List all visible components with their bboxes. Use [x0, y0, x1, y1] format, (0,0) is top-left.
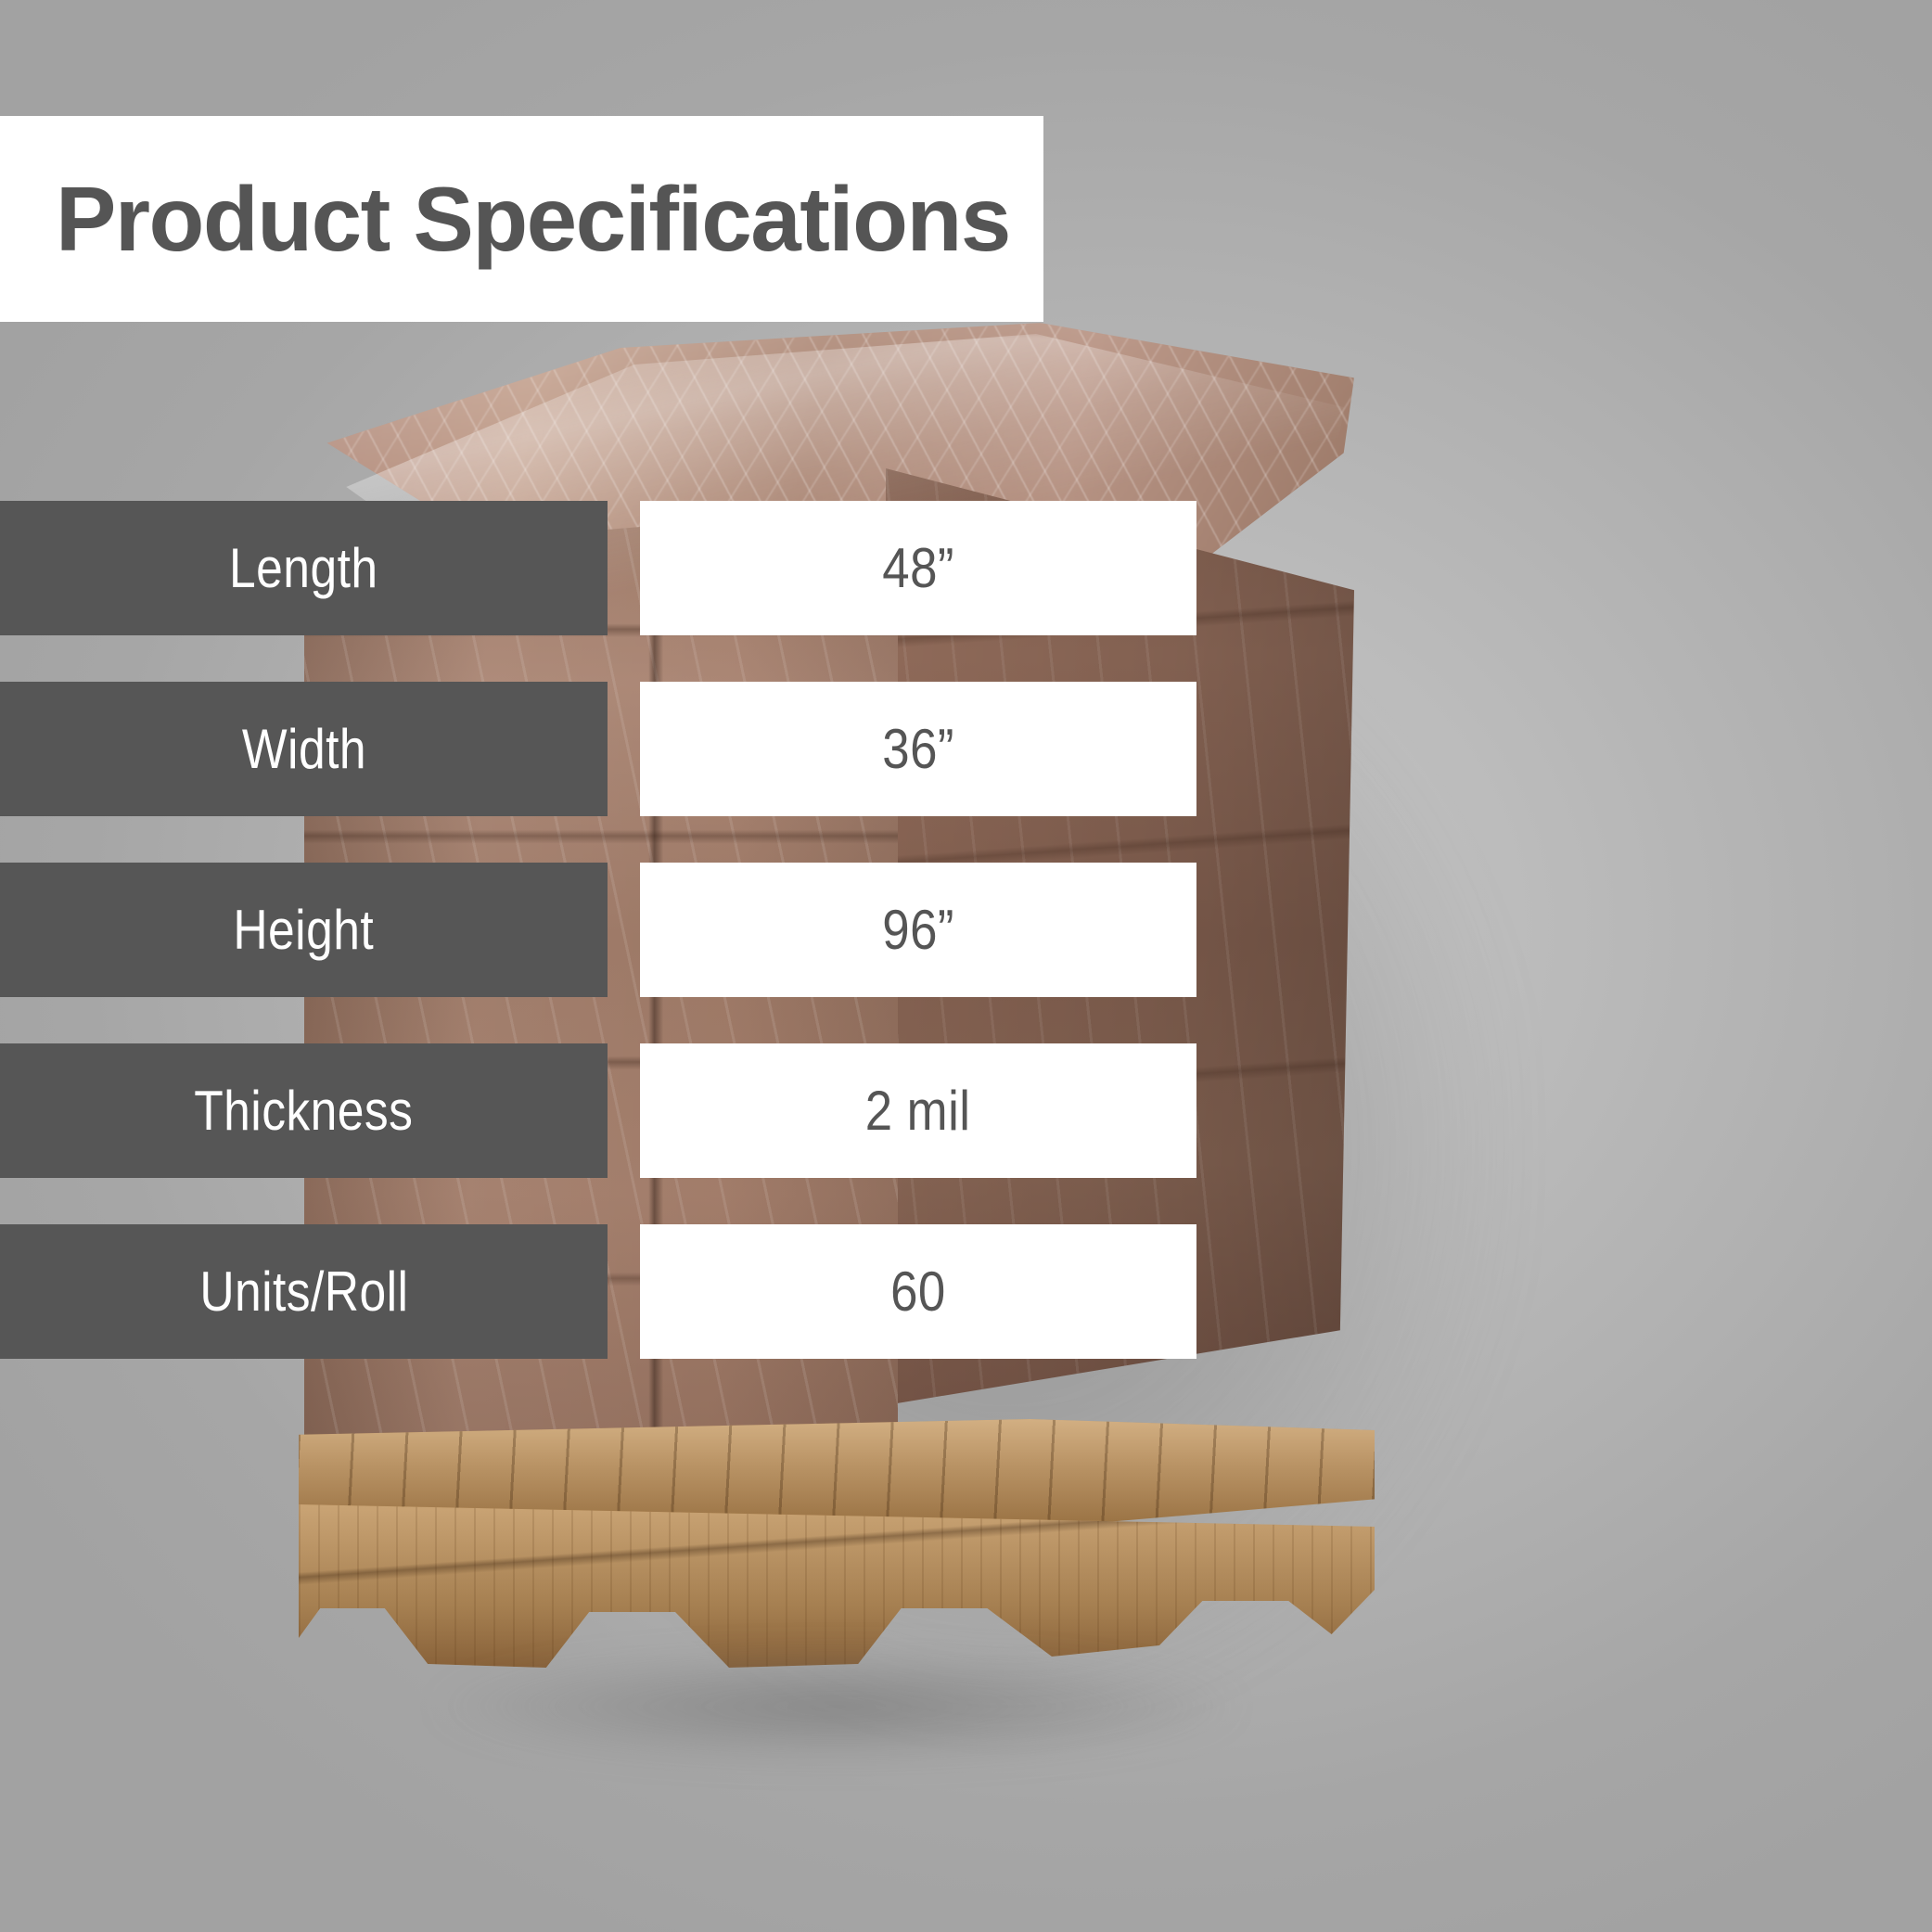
table-row: Thickness 2 mil [0, 1043, 1206, 1178]
spec-label-text: Length [229, 541, 377, 596]
table-row: Width 36” [0, 682, 1206, 816]
spec-label-thickness: Thickness [0, 1043, 608, 1178]
spec-value-height: 96” [640, 863, 1196, 997]
table-row: Height 96” [0, 863, 1206, 997]
specifications-table: Length 48” Width 36” Height 96” Thi [0, 501, 1206, 1405]
spec-label-height: Height [0, 863, 608, 997]
table-row: Units/Roll 60 [0, 1224, 1206, 1359]
spec-value-length: 48” [640, 501, 1196, 635]
page-title: Product Specifications [56, 173, 1010, 264]
spec-value-width: 36” [640, 682, 1196, 816]
spec-label-units-per-roll: Units/Roll [0, 1224, 608, 1359]
spec-label-width: Width [0, 682, 608, 816]
spec-label-text: Height [234, 902, 375, 958]
spec-label-text: Thickness [194, 1083, 413, 1139]
spec-value-text: 2 mil [865, 1083, 971, 1139]
table-row: Length 48” [0, 501, 1206, 635]
spec-label-text: Width [241, 722, 365, 777]
pallet-ground-shadow [354, 1651, 1319, 1790]
spec-value-thickness: 2 mil [640, 1043, 1196, 1178]
spec-label-text: Units/Roll [199, 1264, 408, 1320]
header-panel: Product Specifications [0, 116, 1043, 322]
spec-value-text: 96” [882, 902, 954, 958]
spec-value-text: 36” [882, 722, 954, 777]
infographic-canvas: Product Specifications Length 48” Width … [0, 0, 1932, 1932]
spec-value-units-per-roll: 60 [640, 1224, 1196, 1359]
spec-value-text: 48” [882, 541, 954, 596]
spec-value-text: 60 [890, 1264, 946, 1320]
wooden-pallet [299, 1419, 1375, 1697]
spec-label-length: Length [0, 501, 608, 635]
